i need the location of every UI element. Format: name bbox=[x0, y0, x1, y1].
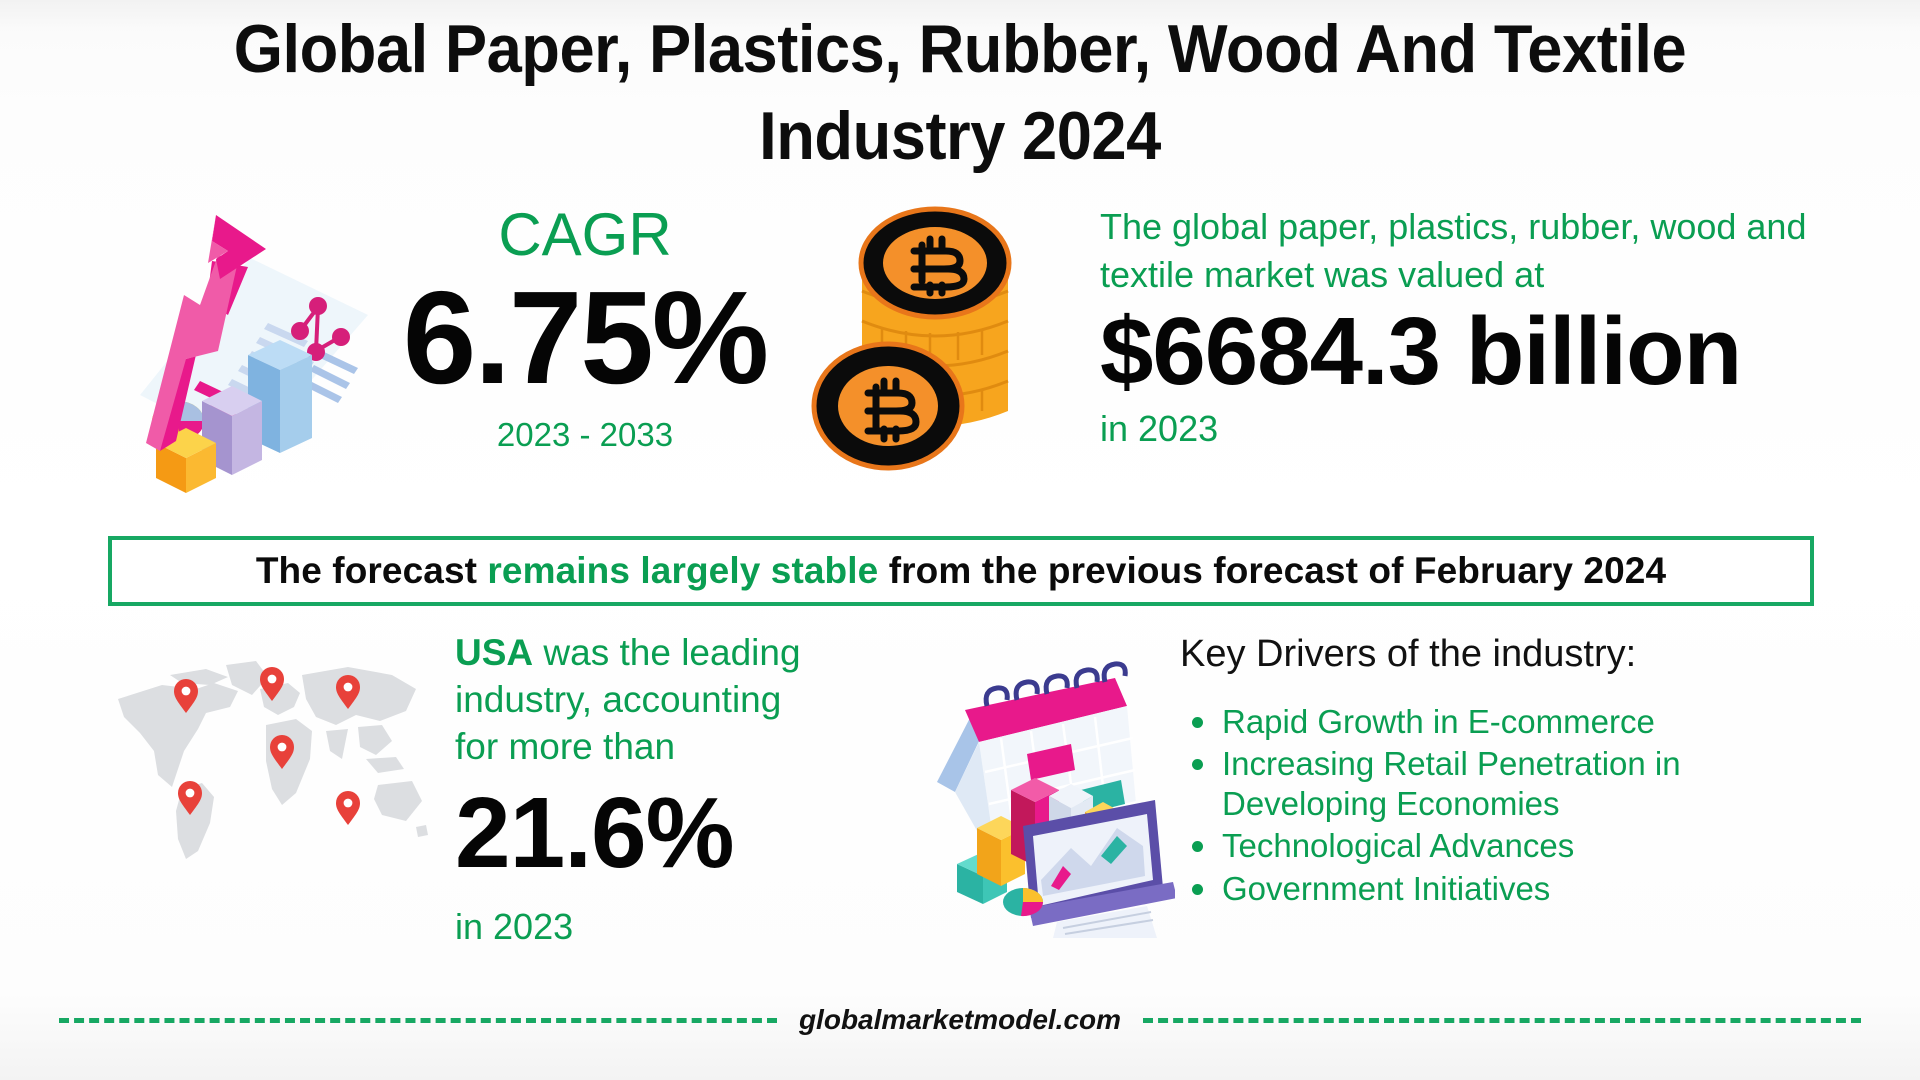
key-drivers-list: Rapid Growth in E-commerce Increasing Re… bbox=[1180, 702, 1800, 909]
list-item: Increasing Retail Penetration in Develop… bbox=[1180, 744, 1800, 825]
infographic-canvas: Global Paper, Plastics, Rubber, Wood And… bbox=[0, 0, 1920, 1080]
region-description: USA was the leading industry, accounting… bbox=[455, 630, 815, 771]
bullet-dot-icon bbox=[1192, 717, 1203, 728]
growth-chart-illustration bbox=[100, 203, 370, 503]
forecast-banner: The forecast remains largely stable from… bbox=[108, 536, 1814, 606]
bitcoin-coins-illustration bbox=[810, 201, 1060, 501]
footer-site-label: globalmarketmodel.com bbox=[777, 1004, 1143, 1036]
region-share-year: in 2023 bbox=[455, 906, 815, 948]
bullet-dot-icon bbox=[1192, 884, 1203, 895]
cagr-block: CAGR 6.75% 2023 - 2033 bbox=[375, 205, 795, 454]
key-drivers-title: Key Drivers of the industry: bbox=[1180, 632, 1800, 678]
page-title: Global Paper, Plastics, Rubber, Wood And… bbox=[123, 6, 1797, 180]
bullet-dot-icon bbox=[1192, 841, 1203, 852]
world-map-illustration bbox=[110, 655, 430, 865]
cagr-value: 6.75% bbox=[375, 269, 795, 408]
cagr-period: 2023 - 2033 bbox=[375, 416, 795, 454]
list-item: Rapid Growth in E-commerce bbox=[1180, 702, 1800, 742]
key-drivers-block: Key Drivers of the industry: Rapid Growt… bbox=[1180, 632, 1800, 911]
row-cagr-market: CAGR 6.75% 2023 - 2033 bbox=[0, 195, 1920, 525]
list-item-label: Technological Advances bbox=[1222, 827, 1574, 864]
calendar-computer-illustration bbox=[905, 650, 1175, 940]
cagr-label: CAGR bbox=[375, 205, 795, 265]
list-item: Government Initiatives bbox=[1180, 869, 1800, 909]
forecast-banner-text: The forecast remains largely stable from… bbox=[256, 550, 1666, 592]
bullet-dot-icon bbox=[1192, 759, 1203, 770]
forecast-highlight: remains largely stable bbox=[487, 550, 878, 591]
list-item-label: Increasing Retail Penetration in Develop… bbox=[1222, 745, 1681, 822]
forecast-suffix: from the previous forecast of February 2… bbox=[878, 550, 1666, 591]
list-item: Technological Advances bbox=[1180, 826, 1800, 866]
list-item-label: Rapid Growth in E-commerce bbox=[1222, 703, 1655, 740]
market-year: in 2023 bbox=[1100, 408, 1840, 450]
market-value: $6684.3 billion bbox=[1100, 300, 1840, 404]
market-value-block: The global paper, plastics, rubber, wood… bbox=[1100, 203, 1840, 450]
footer-divider-right bbox=[1143, 1018, 1861, 1023]
forecast-prefix: The forecast bbox=[256, 550, 488, 591]
region-share-value: 21.6% bbox=[455, 781, 815, 886]
footer-divider-left bbox=[59, 1018, 777, 1023]
market-description: The global paper, plastics, rubber, wood… bbox=[1100, 203, 1840, 298]
region-lead-country: USA bbox=[455, 632, 533, 673]
list-item-label: Government Initiatives bbox=[1222, 870, 1550, 907]
footer: globalmarketmodel.com bbox=[0, 1000, 1920, 1040]
region-leader-block: USA was the leading industry, accounting… bbox=[455, 630, 815, 948]
